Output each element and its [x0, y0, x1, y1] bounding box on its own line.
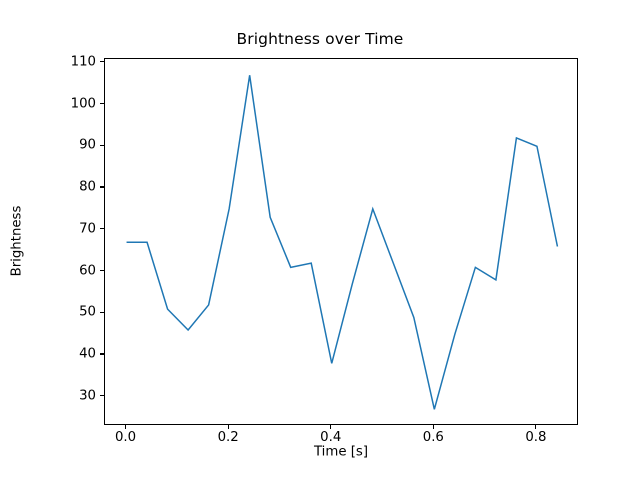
x-tick-label: 0.8 — [506, 430, 566, 445]
brightness-line-series — [127, 75, 558, 409]
line-series-svg — [105, 59, 579, 426]
x-tick-label: 0.2 — [198, 430, 258, 445]
plot-area — [104, 58, 578, 425]
x-tick-label: 0.4 — [301, 430, 361, 445]
x-tick-label: 0.0 — [96, 430, 156, 445]
x-tick-label: 0.6 — [403, 430, 463, 445]
figure-canvas: Brightness over Time Brightness Time [s]… — [0, 0, 640, 480]
